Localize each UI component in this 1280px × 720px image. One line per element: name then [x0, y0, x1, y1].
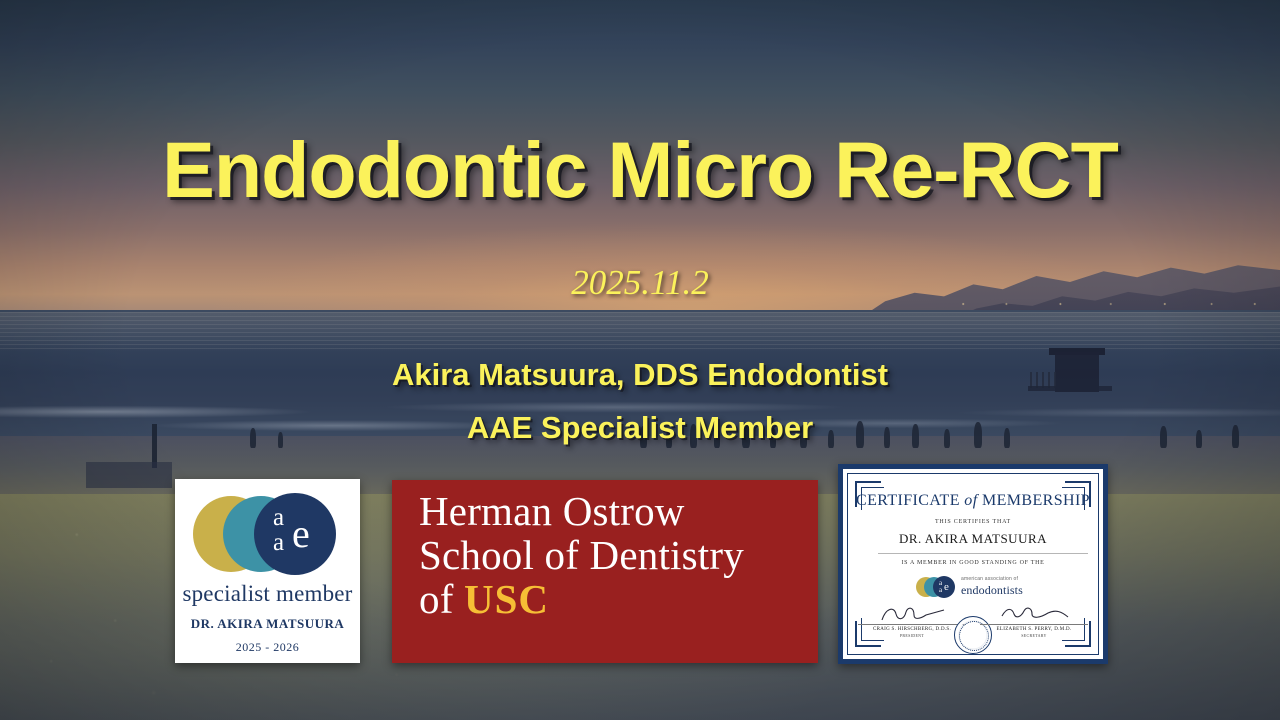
certificate-signature-president: CRAIG S. HIRSCHBERG, D.D.S. PRESIDENT [858, 624, 966, 638]
president-name: CRAIG S. HIRSCHBERG, D.D.S. [858, 627, 966, 632]
certificate-standing-text: IS A MEMBER IN GOOD STANDING OF THE [848, 560, 1098, 566]
aae-monogram: a a e [273, 505, 318, 563]
certificate-heading-part2: MEMBERSHIP [978, 492, 1090, 509]
certificate-inner-frame: CERTIFICATE of MEMBERSHIP THIS CERTIFIES… [847, 473, 1099, 655]
slide-title: Endodontic Micro Re-RCT [0, 124, 1280, 216]
aae-monogram-e: e [292, 514, 310, 554]
usc-wordmark: USC [464, 576, 549, 622]
usc-line-herman-ostrow: Herman Ostrow [419, 490, 818, 534]
certificate-org-line2: endodontists [961, 583, 1023, 598]
signature-line-president [858, 624, 966, 625]
certificate-org-line1: american association of [961, 576, 1018, 582]
certificate-monogram-e: e [944, 582, 949, 593]
piling-shadow [86, 462, 172, 488]
certificate-signature-secretary: ELIZABETH S. PERRY, D.M.D. SECRETARY [980, 624, 1088, 638]
certificate-certifies-text: THIS CERTIFIES THAT [848, 519, 1098, 525]
usc-ostrow-logo-panel: Herman Ostrow School of Dentistry of USC [392, 480, 818, 663]
signature-line-secretary [980, 624, 1088, 625]
presenter-name-line: Akira Matsuura, DDS Endodontist [0, 357, 1280, 393]
certificate-aae-logo: a a e american association of endodontis… [916, 574, 1056, 600]
usc-line-of-usc: of USC [419, 578, 818, 622]
badge-validity-years: 2025 - 2026 [175, 640, 360, 655]
aae-logo-mark: a a e [175, 479, 360, 579]
aae-specialist-member-badge: a a e specialist member DR. AKIRA MATSUU… [175, 479, 360, 663]
ocean-glint [0, 312, 1280, 352]
certificate-heading-of: of [964, 492, 977, 509]
certificate-recipient-name: DR. AKIRA MATSUURA [848, 531, 1098, 547]
signature-scribble-icon [998, 604, 1070, 624]
badge-specialist-member-text: specialist member [175, 581, 360, 607]
certificate-monogram-a-bottom: a [939, 587, 942, 594]
aae-monogram-a-top: a [273, 505, 284, 530]
certificate-heading-part1: CERTIFICATE [856, 492, 964, 509]
badge-holder-name: DR. AKIRA MATSUURA [175, 616, 360, 632]
presentation-title-slide: Endodontic Micro Re-RCT 2025.11.2 Akira … [0, 0, 1280, 720]
certificate-of-membership: CERTIFICATE of MEMBERSHIP THIS CERTIFIES… [838, 464, 1108, 664]
aae-monogram-a-bottom: a [273, 530, 284, 555]
usc-of-text: of [419, 576, 464, 622]
presenter-credential-line: AAE Specialist Member [0, 410, 1280, 446]
president-role: PRESIDENT [858, 633, 966, 638]
slide-date: 2025.11.2 [0, 263, 1280, 303]
secretary-name: ELIZABETH S. PERRY, D.M.D. [980, 627, 1088, 632]
usc-line-school-of-dentistry: School of Dentistry [419, 534, 818, 578]
certificate-heading: CERTIFICATE of MEMBERSHIP [848, 492, 1098, 510]
certificate-name-rule [878, 553, 1088, 554]
signature-scribble-icon [876, 604, 948, 624]
secretary-role: SECRETARY [980, 633, 1088, 638]
